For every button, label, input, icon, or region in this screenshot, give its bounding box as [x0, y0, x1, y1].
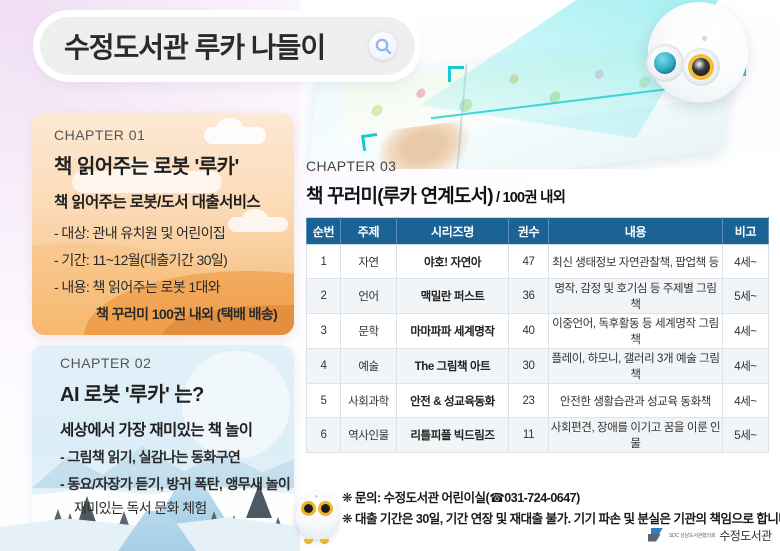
column-header-desc: 내용: [549, 218, 723, 245]
chapter-01-bullet: 책 꾸러미 100권 내외 (택배 배송): [54, 304, 284, 324]
page-title-bar: 수정도서관 루카 나들이: [40, 17, 415, 75]
cell-desc: 최신 생태정보 자연관찰책, 팝업책 등: [549, 245, 723, 279]
logo-mark-icon: [648, 528, 665, 543]
cell-desc: 이중언어, 독후활동 등 세계명작 그림책: [549, 314, 723, 349]
chapter-03-title-sub: / 100권 내외: [493, 190, 565, 206]
luka-robot-image: [640, 2, 756, 106]
cell-no: 4: [307, 349, 341, 384]
column-header-series: 시리즈명: [397, 218, 509, 245]
owl-mascot-icon: [294, 487, 340, 545]
poster-page: 수정도서관 루카 나들이 CHAPTER 01 책 읽어주는 로봇 '루카' 책…: [0, 0, 780, 551]
cell-count: 47: [509, 245, 549, 279]
owl-eye-left: [301, 501, 316, 516]
cell-note: 5세~: [723, 418, 769, 453]
column-header-note: 비고: [723, 218, 769, 245]
logo-subtext: SDC 성남도서관협의회: [669, 532, 715, 539]
owl-foot: [304, 539, 313, 544]
cell-no: 3: [307, 314, 341, 349]
chapter-03-label: CHAPTER 03: [306, 158, 768, 174]
table-row: 1 자연 야호! 자연아 47 최신 생태정보 자연관찰책, 팝업책 등 4세~: [307, 245, 769, 279]
cell-desc: 사회편견, 장애를 이기고 꿈을 이룬 인물: [549, 418, 723, 453]
cell-no: 2: [307, 279, 341, 314]
table-row: 6 역사인물 리틀피플 빅드림즈 11 사회편견, 장애를 이기고 꿈을 이룬 …: [307, 418, 769, 453]
footer-note-contact: ❋ 문의: 수정도서관 어린이실(☎031-724-0647): [342, 488, 772, 509]
robot-eye-left: [646, 44, 684, 82]
chapter-02-subtitle: 세상에서 가장 재미있는 책 놀이: [60, 418, 286, 440]
owl-body: [296, 491, 338, 539]
chapter-01-title: 책 읽어주는 로봇 '루카': [54, 150, 284, 179]
chapter-02-bullet: - 그림책 읽기, 실감나는 동화구연: [60, 447, 286, 467]
scan-corner-icon: [361, 133, 379, 151]
cell-desc: 안전한 생활습관과 성교육 동화책: [549, 384, 723, 418]
cell-count: 40: [509, 314, 549, 349]
chapter-03-title-main: 책 꾸러미(루카 연계도서): [306, 186, 493, 207]
table-row: 5 사회과학 안전 & 성교육동화 23 안전한 생활습관과 성교육 동화책 4…: [307, 384, 769, 418]
cell-count: 36: [509, 279, 549, 314]
cell-topic: 언어: [341, 279, 397, 314]
library-logo: SDC 성남도서관협의회 수정도서관: [648, 524, 774, 546]
search-icon[interactable]: [369, 32, 397, 60]
robot-sensor-dot: [702, 36, 707, 41]
column-header-count: 권수: [509, 218, 549, 245]
robot-pupil: [692, 58, 710, 76]
cell-topic: 사회과학: [341, 384, 397, 418]
chapter-01-bullet: - 내용: 책 읽어주는 로봇 1대와: [54, 277, 284, 297]
cell-note: 4세~: [723, 349, 769, 384]
chapter-01-subtitle: 책 읽어주는 로봇/도서 대출서비스: [54, 190, 284, 212]
cell-topic: 문학: [341, 314, 397, 349]
owl-sensor-dot: [315, 495, 318, 498]
cell-series: The 그림책 아트: [397, 349, 509, 384]
book-bundle-table: 순번 주제 시리즈명 권수 내용 비고 1 자연 야호! 자연아 47 최신 생…: [306, 217, 769, 453]
cell-count: 11: [509, 418, 549, 453]
cell-note: 5세~: [723, 279, 769, 314]
cell-note: 4세~: [723, 245, 769, 279]
chapter-01-label: CHAPTER 01: [54, 127, 284, 143]
cell-series: 마마파파 세계명작: [397, 314, 509, 349]
table-row: 4 예술 The 그림책 아트 30 플레이, 하모니, 갤러리 3개 예술 그…: [307, 349, 769, 384]
cell-topic: 예술: [341, 349, 397, 384]
cell-series: 안전 & 성교육동화: [397, 384, 509, 418]
table-header-row: 순번 주제 시리즈명 권수 내용 비고: [307, 218, 769, 245]
chapter-01-bullet: - 기간: 11~12월(대출기간 30일): [54, 250, 284, 270]
table-row: 3 문학 마마파파 세계명작 40 이중언어, 독후활동 등 세계명작 그림책 …: [307, 314, 769, 349]
owl-pupil: [304, 504, 313, 513]
chapter-02-card: CHAPTER 02 AI 로봇 '루카' 는? 세상에서 가장 재미있는 책 …: [32, 345, 294, 530]
owl-foot: [320, 539, 329, 544]
cell-desc: 플레이, 하모니, 갤러리 3개 예술 그림책: [549, 349, 723, 384]
cell-series: 야호! 자연아: [397, 245, 509, 279]
logo-library-name: 수정도서관: [719, 527, 771, 544]
cell-topic: 역사인물: [341, 418, 397, 453]
chapter-02-label: CHAPTER 02: [60, 355, 286, 371]
cell-no: 6: [307, 418, 341, 453]
owl-pupil: [321, 504, 330, 513]
table-row: 2 언어 맥밀란 퍼스트 36 명작, 감정 및 호기심 등 주제별 그림책 5…: [307, 279, 769, 314]
chapter-03-section: CHAPTER 03 책 꾸러미(루카 연계도서) / 100권 내외 순번 주…: [306, 158, 768, 453]
cell-series: 리틀피플 빅드림즈: [397, 418, 509, 453]
owl-eye-right: [318, 501, 333, 516]
column-header-no: 순번: [307, 218, 341, 245]
robot-eye-right: [682, 48, 720, 86]
chapter-02-bullet: 재미있는 독서 문화 체험: [60, 498, 286, 518]
cell-count: 30: [509, 349, 549, 384]
cell-note: 4세~: [723, 384, 769, 418]
column-header-topic: 주제: [341, 218, 397, 245]
page-title: 수정도서관 루카 나들이: [64, 26, 369, 66]
cell-no: 1: [307, 245, 341, 279]
chapter-01-card: CHAPTER 01 책 읽어주는 로봇 '루카' 책 읽어주는 로봇/도서 대…: [32, 113, 294, 335]
chapter-03-title: 책 꾸러미(루카 연계도서) / 100권 내외: [306, 181, 768, 208]
chapter-01-bullet: - 대상: 관내 유치원 및 어린이집: [54, 223, 284, 243]
scan-corner-icon: [448, 66, 464, 82]
cell-desc: 명작, 감정 및 호기심 등 주제별 그림책: [549, 279, 723, 314]
cell-no: 5: [307, 384, 341, 418]
cell-note: 4세~: [723, 314, 769, 349]
chapter-02-title: AI 로봇 '루카' 는?: [60, 378, 286, 407]
robot-pupil: [654, 52, 676, 74]
chapter-02-bullet: - 동요/자장가 듣기, 방귀 폭탄, 앵무새 놀이 등: [60, 474, 286, 494]
cell-topic: 자연: [341, 245, 397, 279]
cell-series: 맥밀란 퍼스트: [397, 279, 509, 314]
cell-count: 23: [509, 384, 549, 418]
